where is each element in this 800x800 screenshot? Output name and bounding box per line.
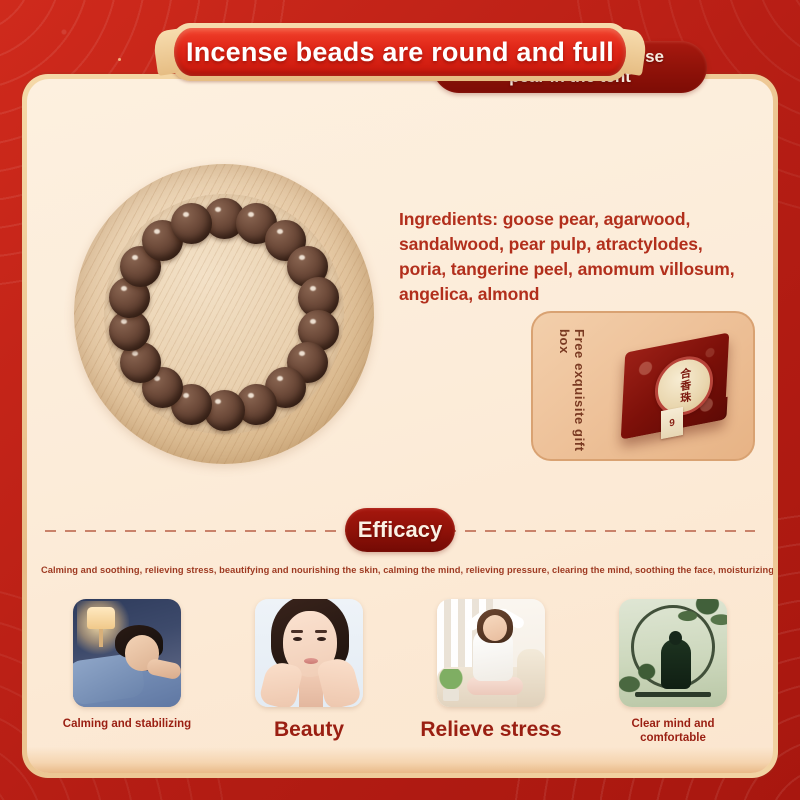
- efficacy-heading-pill: Efficacy: [345, 508, 455, 552]
- lamp-shade: [87, 607, 115, 629]
- meditation-photo: [619, 599, 727, 707]
- meditating-figure-head: [669, 631, 682, 645]
- content-card: Ingredients: goose pear, agarwood, sanda…: [27, 79, 773, 773]
- product-poster: Ingredients: goose pear, agarwood, sanda…: [0, 0, 800, 800]
- gift-box-image: 合香珠 9: [609, 325, 745, 451]
- bottom-gold-sheen: [27, 747, 773, 773]
- lips: [304, 658, 318, 664]
- head: [483, 615, 507, 641]
- bench: [635, 692, 711, 697]
- eyebrow-left: [291, 630, 303, 633]
- benefit-item-relieve-stress: Relieve stress: [417, 599, 565, 745]
- ingredients-text: Ingredients: goose pear, agarwood, sanda…: [399, 207, 751, 306]
- hand-left: [258, 659, 304, 707]
- plant-pot: [443, 689, 459, 701]
- benefit-item-beauty: Beauty: [235, 599, 383, 745]
- eyebrow-right: [315, 630, 327, 633]
- sofa-arm: [517, 649, 545, 707]
- stretching-woman-photo: [437, 599, 545, 707]
- benefit-list: Calming and stabilizing: [53, 599, 747, 745]
- beauty-face-photo: [255, 599, 363, 707]
- benefit-item-clear-mind: Clear mind and comfortable: [599, 599, 747, 745]
- efficacy-heading-text: Efficacy: [358, 517, 442, 543]
- benefit-caption: Relieve stress: [420, 718, 561, 743]
- medallion-text: 合香珠: [678, 367, 690, 405]
- benefit-caption: Clear mind and comfortable: [599, 718, 747, 745]
- bracelet-bead: [171, 203, 212, 244]
- main-title-banner: Incense beads are round and full: [168, 23, 632, 81]
- eye-right: [317, 637, 326, 641]
- benefit-item-calming: Calming and stabilizing: [53, 599, 201, 745]
- page-title: Incense beads are round and full: [186, 37, 614, 68]
- gold-frame: Ingredients: goose pear, agarwood, sanda…: [22, 74, 778, 778]
- benefit-caption: Calming and stabilizing: [63, 718, 191, 732]
- eye-left: [293, 637, 302, 641]
- gift-box-tag: 9: [661, 407, 683, 439]
- efficacy-description: Calming and soothing, relieving stress, …: [41, 565, 759, 575]
- sparkle-speck: [118, 58, 121, 61]
- meditating-figure: [661, 639, 691, 689]
- benefit-caption: Beauty: [274, 718, 344, 743]
- lamp-stem: [99, 629, 103, 647]
- gift-box-panel: Free exquisite gift box 合香珠 9: [531, 311, 755, 461]
- title-plaque-red-face: Incense beads are round and full: [174, 28, 626, 76]
- sleeping-woman-photo: [73, 599, 181, 707]
- bracelet-product-photo: [74, 164, 374, 464]
- gift-box-label: Free exquisite gift box: [557, 329, 587, 459]
